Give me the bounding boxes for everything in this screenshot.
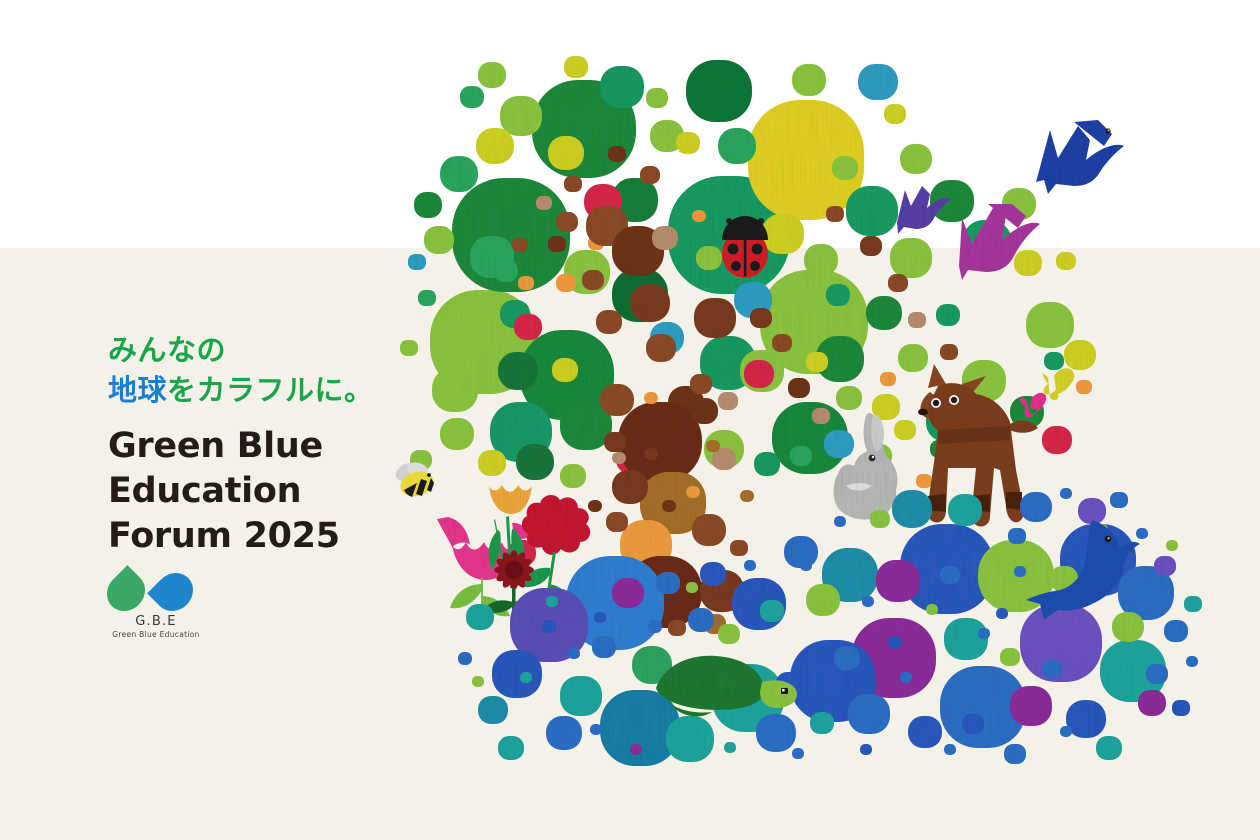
logo-abbreviation: G.B.E xyxy=(106,614,206,629)
tagline-line-2: 地球をカラフルに。 xyxy=(108,370,438,410)
tagline-line-1: みんなの xyxy=(108,330,438,370)
logo-subtitle: Green Blue Education xyxy=(106,630,206,639)
title-line-2: Education xyxy=(108,469,438,514)
page-title: Green Blue Education Forum 2025 xyxy=(108,424,438,559)
text-block: みんなの 地球をカラフルに。 Green Blue Education Foru… xyxy=(108,330,438,559)
poster: みんなの 地球をカラフルに。 Green Blue Education Foru… xyxy=(0,0,1260,840)
title-line-1: Green Blue xyxy=(108,424,438,469)
logo-marks xyxy=(106,572,198,612)
leaf-green-icon xyxy=(99,565,153,619)
leaf-blue-icon xyxy=(147,565,201,619)
logo[interactable]: G.B.E Green Blue Education xyxy=(106,572,206,639)
sky-background xyxy=(0,0,1260,248)
tagline-colorful-word: をカラフルに。 xyxy=(167,373,374,407)
title-line-3: Forum 2025 xyxy=(108,514,438,559)
tagline-earth-word: 地球 xyxy=(108,373,167,407)
